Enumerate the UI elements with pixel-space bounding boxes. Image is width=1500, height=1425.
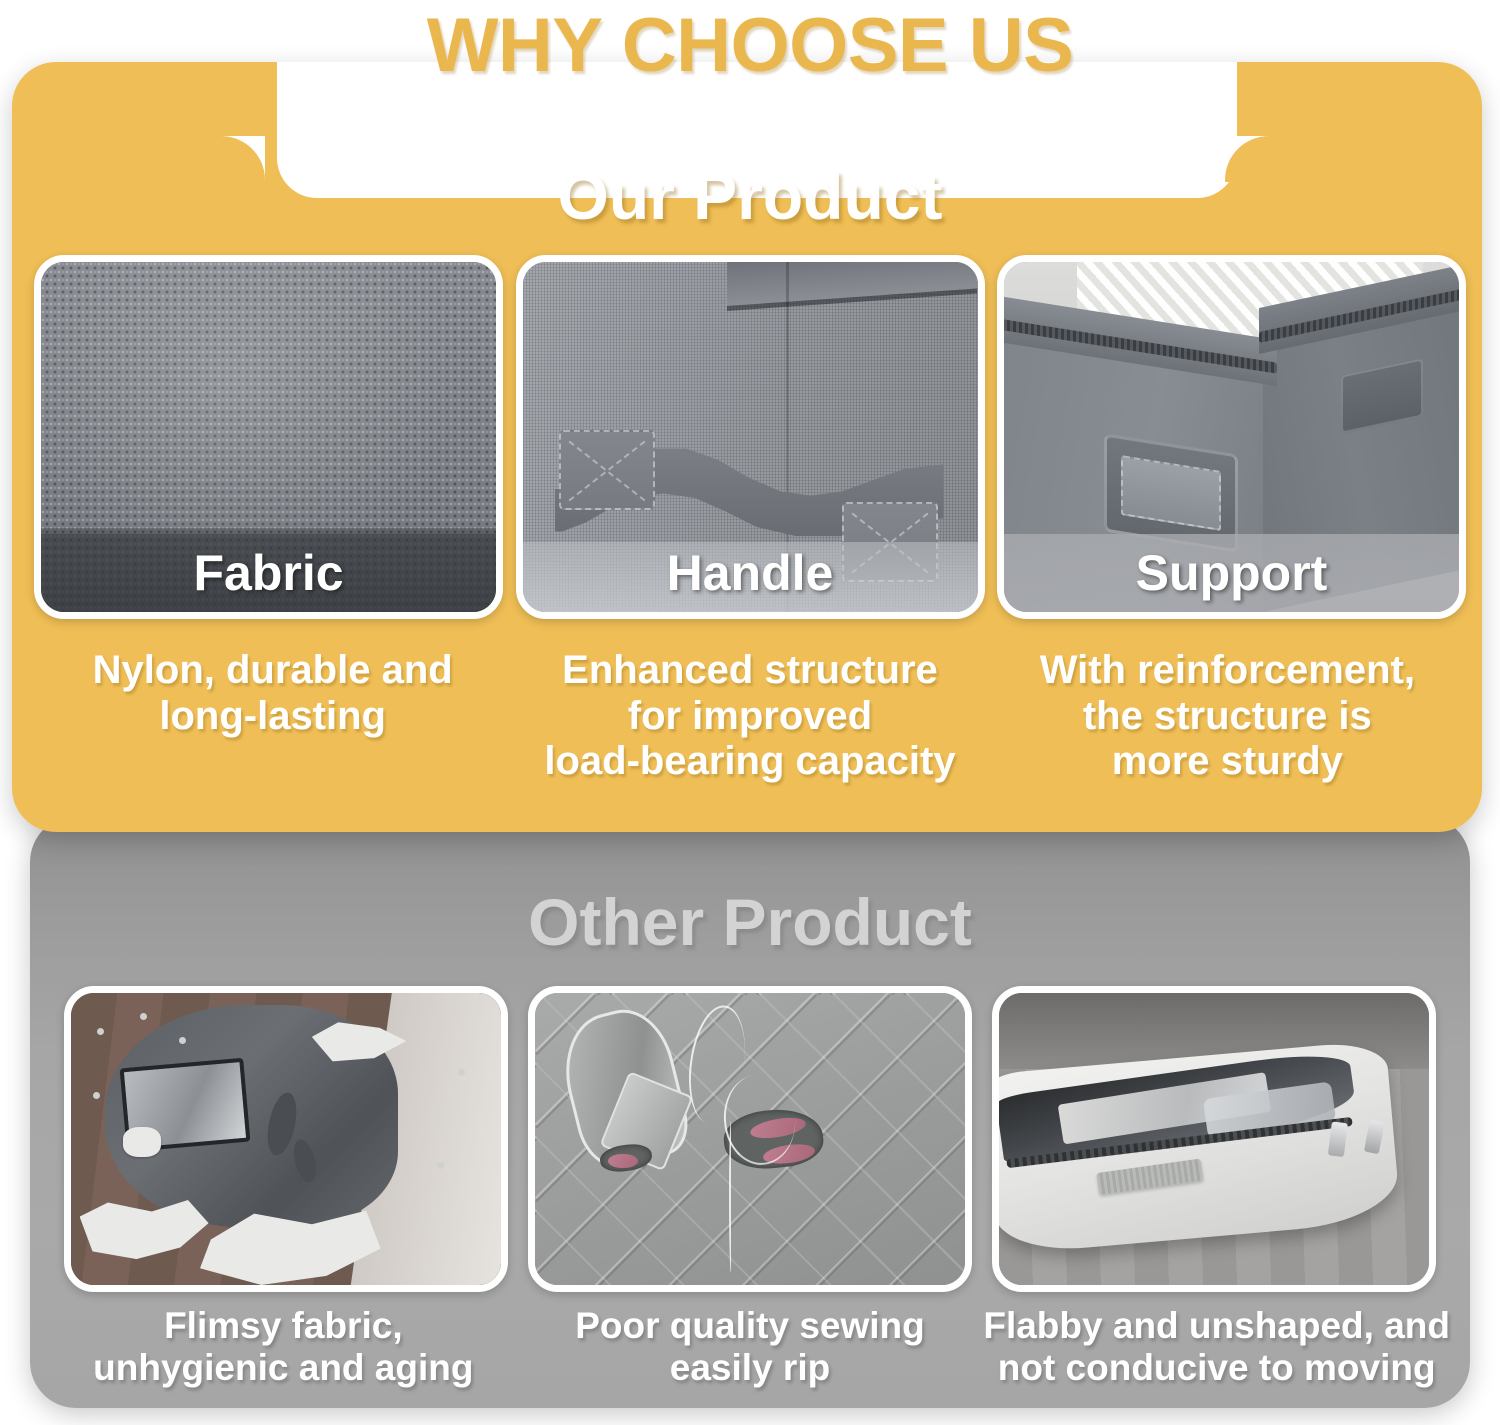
damaged-bag-image [71, 993, 501, 1285]
other-product-caption-row: Flimsy fabric, unhygienic and aging Poor… [50, 1305, 1450, 1389]
other-product-tile-row [64, 986, 1436, 1292]
other-product-tile-sewing[interactable] [528, 986, 972, 1292]
page-title: WHY CHOOSE US [0, 2, 1500, 89]
other-product-tile-flabby[interactable] [992, 986, 1436, 1292]
ripped-quilt-image [535, 993, 965, 1285]
caption-fabric: Nylon, durable and long-lasting [34, 648, 511, 785]
other-product-heading: Other Product [0, 884, 1500, 960]
our-product-tile-support[interactable]: Support [997, 255, 1466, 619]
tile-label-fabric: Fabric [41, 534, 496, 612]
caption-sewing: Poor quality sewing easily rip [517, 1305, 984, 1389]
our-product-tile-handle[interactable]: Handle [516, 255, 985, 619]
our-product-heading: Our Product [0, 158, 1500, 234]
flabby-bag-image [999, 993, 1429, 1285]
other-product-tile-flimsy[interactable] [64, 986, 508, 1292]
our-product-tile-row: Fabric Handle [34, 255, 1466, 619]
caption-flabby: Flabby and unshaped, and not conducive t… [983, 1305, 1450, 1389]
caption-support: With reinforcement, the structure is mor… [989, 648, 1466, 785]
our-product-caption-row: Nylon, durable and long-lasting Enhanced… [34, 648, 1466, 785]
our-product-tile-fabric[interactable]: Fabric [34, 255, 503, 619]
infographic-root: WHY CHOOSE US Our Product Fabric [0, 0, 1500, 1425]
caption-handle: Enhanced structure for improved load-bea… [511, 648, 988, 785]
tile-label-support: Support [1004, 534, 1459, 612]
caption-flimsy: Flimsy fabric, unhygienic and aging [50, 1305, 517, 1389]
tile-label-handle: Handle [523, 534, 978, 612]
